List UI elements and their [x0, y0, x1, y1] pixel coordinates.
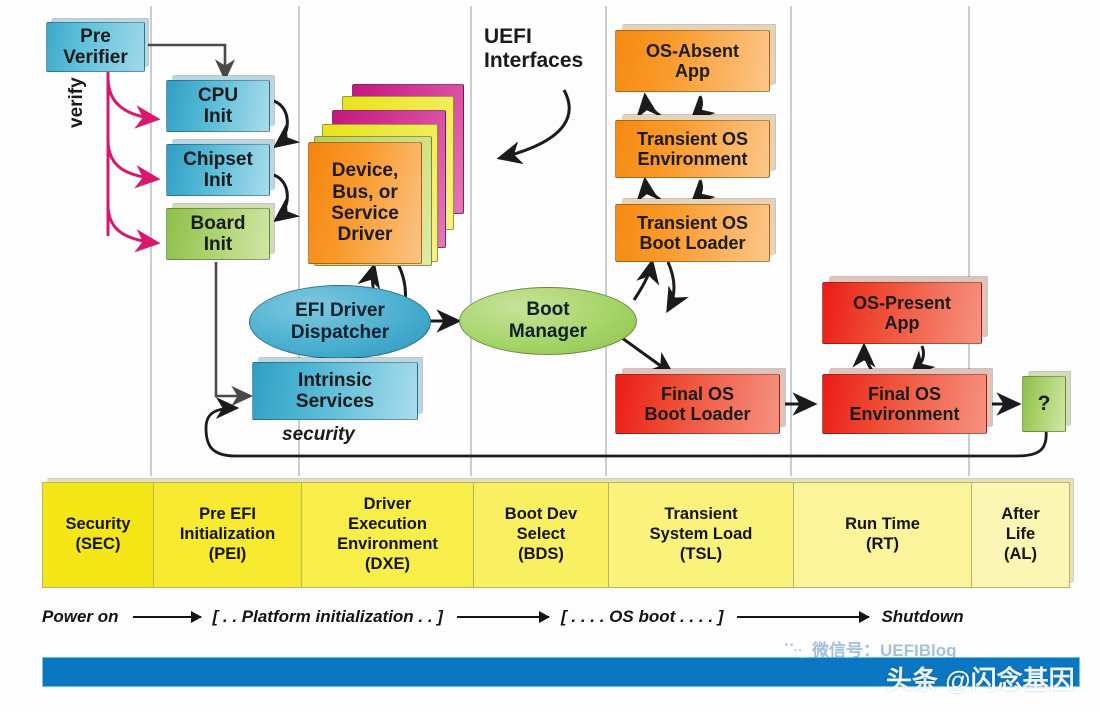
phase-tsl-l1: Transient [664, 505, 737, 523]
intrinsic-line1: Intrinsic [294, 370, 376, 391]
phase-rt-l2: (RT) [866, 535, 899, 553]
final-loader-line2: Boot Loader [641, 404, 755, 424]
phase-rt[interactable]: Run Time (RT) [794, 483, 972, 587]
phase-pei-l1: Pre EFI [199, 505, 256, 523]
phase-dxe[interactable]: Driver Execution Environment (DXE) [302, 483, 474, 587]
phase-tsl-l2: System Load [650, 525, 753, 543]
phase-bds-l2: Select [517, 525, 566, 543]
phase-bds-l3: (BDS) [518, 545, 564, 563]
phase-security-l1: Security [65, 515, 130, 533]
transient-env-line1: Transient OS [633, 129, 752, 149]
final-env-line1: Final OS [864, 384, 945, 404]
block-after-life-unknown[interactable]: ? [1022, 376, 1066, 432]
os-present-line1: OS-Present [849, 293, 955, 313]
timeline-os-boot: [ . . . . OS boot . . . . ] [561, 607, 723, 627]
driver-line2: Bus, or [328, 182, 401, 203]
block-cpu-init[interactable]: CPU Init [166, 80, 270, 132]
dispatcher-line2: Dispatcher [291, 322, 389, 344]
phase-security[interactable]: Security (SEC) [43, 483, 154, 587]
os-absent-line1: OS-Absent [642, 41, 743, 61]
phase-pei-l2: Initialization [180, 525, 275, 543]
block-transient-os-environment[interactable]: Transient OS Environment [615, 120, 770, 178]
final-loader-line1: Final OS [657, 384, 738, 404]
ellipse-boot-manager[interactable]: Boot Manager [459, 287, 637, 355]
label-security: security [282, 424, 355, 446]
phase-bds[interactable]: Boot Dev Select (BDS) [474, 483, 609, 587]
block-os-present-app[interactable]: OS-Present App [822, 282, 982, 344]
block-transient-os-boot-loader[interactable]: Transient OS Boot Loader [615, 204, 770, 262]
board-init-line2: Init [200, 234, 237, 255]
board-init-line1: Board [187, 213, 250, 234]
timeline-platform-init: [ . . Platform initialization . . ] [213, 607, 443, 627]
intrinsic-line2: Services [292, 391, 378, 412]
phase-al-l2: Life [1006, 525, 1035, 543]
label-verify: verify [66, 77, 88, 128]
block-final-os-environment[interactable]: Final OS Environment [822, 374, 987, 434]
phase-tsl[interactable]: Transient System Load (TSL) [609, 483, 794, 587]
phase-al-l3: (AL) [1004, 545, 1037, 563]
phase-dxe-l3: Environment [337, 535, 438, 553]
bootmgr-line1: Boot [526, 299, 569, 321]
chipset-init-line1: Chipset [179, 149, 257, 170]
transient-loader-line2: Boot Loader [636, 233, 750, 253]
phase-tsl-l3: (TSL) [680, 545, 722, 563]
timeline-arrow-1 [133, 616, 201, 618]
dispatcher-line1: EFI Driver [295, 300, 385, 322]
pre-verifier-line1: Pre [76, 26, 115, 47]
block-intrinsic-services[interactable]: Intrinsic Services [252, 362, 418, 420]
final-env-line2: Environment [845, 404, 963, 424]
afterlife-question: ? [1034, 392, 1055, 416]
phase-bds-l1: Boot Dev [505, 505, 577, 523]
driver-line4: Driver [334, 224, 397, 245]
block-board-init[interactable]: Board Init [166, 208, 270, 260]
block-device-bus-service-driver[interactable]: Device, Bus, or Service Driver [308, 142, 422, 264]
timeline-arrow-3 [737, 616, 869, 618]
phase-pei-l3: (PEI) [209, 545, 247, 563]
uefi-interfaces-line1: UEFI [484, 25, 532, 48]
phase-rt-l1: Run Time [845, 515, 920, 533]
cpu-init-line1: CPU [194, 85, 242, 106]
transient-loader-line1: Transient OS [633, 213, 752, 233]
phase-al[interactable]: After Life (AL) [972, 483, 1069, 587]
block-final-os-boot-loader[interactable]: Final OS Boot Loader [615, 374, 780, 434]
phase-pei[interactable]: Pre EFI Initialization (PEI) [154, 483, 302, 587]
block-os-absent-app[interactable]: OS-Absent App [615, 30, 770, 92]
block-pre-verifier[interactable]: Pre Verifier [46, 22, 145, 72]
os-present-line2: App [881, 313, 924, 333]
timeline-power-on: Power on [42, 607, 119, 627]
timeline-shutdown: Shutdown [881, 607, 963, 627]
cpu-init-line2: Init [200, 106, 237, 127]
os-absent-line2: App [671, 61, 714, 81]
ellipse-efi-driver-dispatcher[interactable]: EFI Driver Dispatcher [249, 285, 431, 359]
phase-bar: Security (SEC) Pre EFI Initialization (P… [42, 482, 1070, 588]
driver-line1: Device, [328, 160, 403, 181]
pre-verifier-line2: Verifier [59, 47, 131, 68]
bootmgr-line2: Manager [509, 321, 587, 343]
transient-env-line2: Environment [633, 149, 751, 169]
footer-blue-band [42, 657, 1080, 687]
phase-dxe-l1: Driver [364, 495, 412, 513]
timeline: Power on [ . . Platform initialization .… [42, 600, 1072, 634]
phase-security-l2: (SEC) [76, 535, 121, 553]
uefi-boot-flow-diagram: Pre Verifier CPU Init Chipset Init Board… [0, 0, 1100, 712]
driver-line3: Service [327, 203, 403, 224]
chipset-init-line2: Init [200, 170, 237, 191]
uefi-interfaces-line2: Interfaces [484, 49, 583, 72]
block-chipset-init[interactable]: Chipset Init [166, 144, 270, 196]
label-uefi-interfaces: UEFI Interfaces [484, 25, 583, 73]
timeline-arrow-2 [457, 616, 549, 618]
phase-dxe-l4: (DXE) [365, 555, 410, 573]
phase-al-l1: After [1001, 505, 1040, 523]
phase-dxe-l2: Execution [348, 515, 427, 533]
